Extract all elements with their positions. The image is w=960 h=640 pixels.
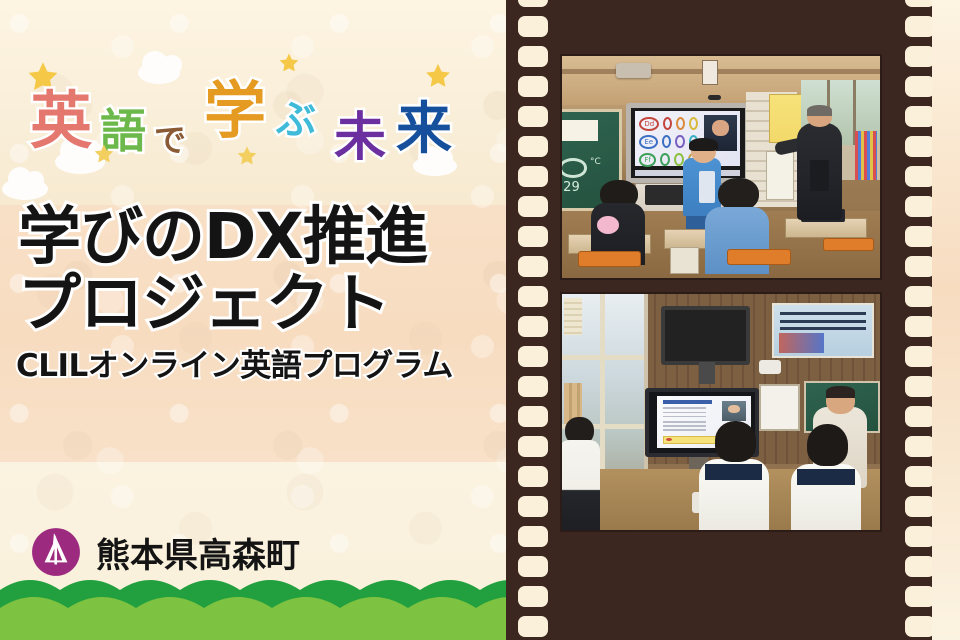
perforation [905, 586, 935, 607]
left-content-column: 英 語 で 学 ぶ 未 来 学びのDX推進 プロジェクト CLILオンライン英語… [0, 0, 506, 640]
teacher-hair [807, 105, 832, 116]
poster-text-line [780, 320, 866, 323]
perforation [518, 586, 548, 607]
perforation [518, 556, 548, 577]
alphabet-pill [689, 117, 698, 130]
perforation [518, 46, 548, 67]
perforation [905, 346, 935, 367]
perforation [905, 406, 935, 427]
alphabet-row: Dd [639, 117, 698, 131]
tv-mount [699, 362, 715, 383]
remote-teacher-face [712, 120, 729, 137]
perforation [518, 196, 548, 217]
perforation [905, 196, 935, 217]
video-call-tile [722, 401, 746, 421]
poster-artwork [779, 333, 824, 353]
blackboard-temp-unit: °C [590, 157, 601, 167]
slide-text-line [663, 421, 706, 423]
shirt-graphic [699, 171, 715, 202]
wall-mounted-tv [661, 306, 750, 365]
student-figure [560, 440, 600, 530]
filmstrip: 29 °C Dd Ee [506, 0, 932, 640]
school-goal-poster [772, 303, 874, 357]
slide-heading-bar [663, 400, 712, 404]
ceiling-beam [562, 69, 880, 74]
sailor-collar [705, 464, 762, 481]
alphabet-pill [663, 117, 672, 130]
film-frame-1: 29 °C Dd Ee [560, 54, 882, 280]
poster-text-line [780, 312, 866, 315]
student-chair [727, 249, 791, 265]
perforation [905, 526, 935, 547]
shirt-badge [597, 216, 619, 234]
perforation [905, 436, 935, 457]
filmstrip-perforations-right [905, 0, 935, 640]
wall-sensor [759, 360, 781, 374]
perforation [905, 76, 935, 97]
wall-poster-white [766, 151, 795, 200]
printer [645, 185, 686, 205]
slide-text-line [663, 412, 706, 414]
perforation [905, 166, 935, 187]
slide-text-line [663, 407, 706, 409]
page-title-line1: 学びのDX推進 [0, 207, 506, 267]
window-mullion [562, 355, 644, 360]
perforation [518, 136, 548, 157]
perforation [518, 226, 548, 247]
perforation [518, 106, 548, 127]
perforation [905, 256, 935, 277]
ceiling-speaker [616, 63, 651, 79]
header-char-bu: ぶ [276, 100, 316, 140]
photo-junior-high-online-english-class [562, 294, 880, 530]
perforation [905, 496, 935, 517]
header-char-de: で [154, 124, 186, 156]
alphabet-pill [676, 117, 685, 130]
teacher-hair [826, 386, 855, 398]
perforation [518, 76, 548, 97]
perforation [905, 226, 935, 247]
remote-instructor-face [728, 405, 740, 413]
alphabet-pill [662, 135, 671, 148]
perforation [905, 136, 935, 157]
alphabet-label-ff: Ff [639, 153, 656, 167]
right-margin [932, 0, 960, 640]
film-frame-2 [560, 292, 882, 532]
filmstrip-perforations-left [518, 0, 548, 640]
perforation [518, 496, 548, 517]
perforation [518, 346, 548, 367]
poster-text-line [780, 327, 866, 330]
poster-root: 英 語 で 学 ぶ 未 来 学びのDX推進 プロジェクト CLILオンライン英語… [0, 0, 960, 640]
alphabet-label-ee: Ee [639, 135, 658, 149]
window-blind [564, 298, 583, 335]
slide-text-line [663, 416, 706, 418]
perforation [518, 166, 548, 187]
perforation [905, 316, 935, 337]
perforation [905, 376, 935, 397]
header-char-rai: 来 [396, 102, 452, 158]
header-char-mi: 未 [334, 112, 386, 164]
school-bag [670, 247, 699, 274]
perforation [518, 16, 548, 37]
perforation [518, 0, 548, 7]
alphabet-pill [660, 153, 670, 166]
photo-elementary-online-english-class: 29 °C Dd Ee [562, 56, 880, 278]
window-mullion [600, 294, 605, 497]
star-icon [278, 52, 300, 74]
perforation [518, 406, 548, 427]
perforation [905, 286, 935, 307]
whiteboard-alphabet-grid: Dd Ee [639, 117, 698, 158]
blackboard-temp-value: 29 [563, 180, 580, 195]
blackboard-note [560, 120, 598, 141]
webcam [708, 95, 721, 100]
blackboard-chalk-circle [560, 158, 587, 177]
cloud-icon [2, 178, 48, 200]
header-char-mana: 学 [204, 80, 266, 142]
book-row [855, 131, 877, 180]
slide-text-line [663, 429, 706, 431]
perforation [518, 526, 548, 547]
perforation [905, 16, 935, 37]
star-icon [93, 143, 115, 165]
perforation [905, 466, 935, 487]
header-char-ei: 英 [30, 90, 92, 152]
perforation [518, 616, 548, 637]
perforation [518, 256, 548, 277]
perforation [518, 466, 548, 487]
perforation [905, 616, 935, 637]
perforation [518, 316, 548, 337]
wall-picture-frame [702, 60, 718, 84]
slide-text-line [663, 425, 706, 427]
perforation [518, 436, 548, 457]
page-subtitle: CLILオンライン英語プログラム [0, 352, 506, 382]
teacher-shoulder-bag [810, 160, 829, 191]
perforation [905, 106, 935, 127]
perforation [905, 46, 935, 67]
perforation [518, 376, 548, 397]
star-icon [236, 145, 258, 167]
student-head [715, 421, 756, 461]
perforation [905, 0, 935, 7]
sailor-collar [797, 469, 854, 486]
student-chair [578, 251, 642, 267]
perforation [518, 286, 548, 307]
perforation [905, 556, 935, 577]
student-head [807, 424, 848, 466]
alphabet-pill [675, 135, 684, 148]
page-title-line2: プロジェクト [0, 274, 506, 334]
title-block: 学びのDX推進 プロジェクト CLILオンライン英語プログラム [0, 207, 506, 382]
presenting-student-hair [689, 138, 718, 151]
small-whiteboard [759, 384, 800, 431]
student-chair [823, 238, 874, 251]
alphabet-label-dd: Dd [639, 117, 659, 131]
